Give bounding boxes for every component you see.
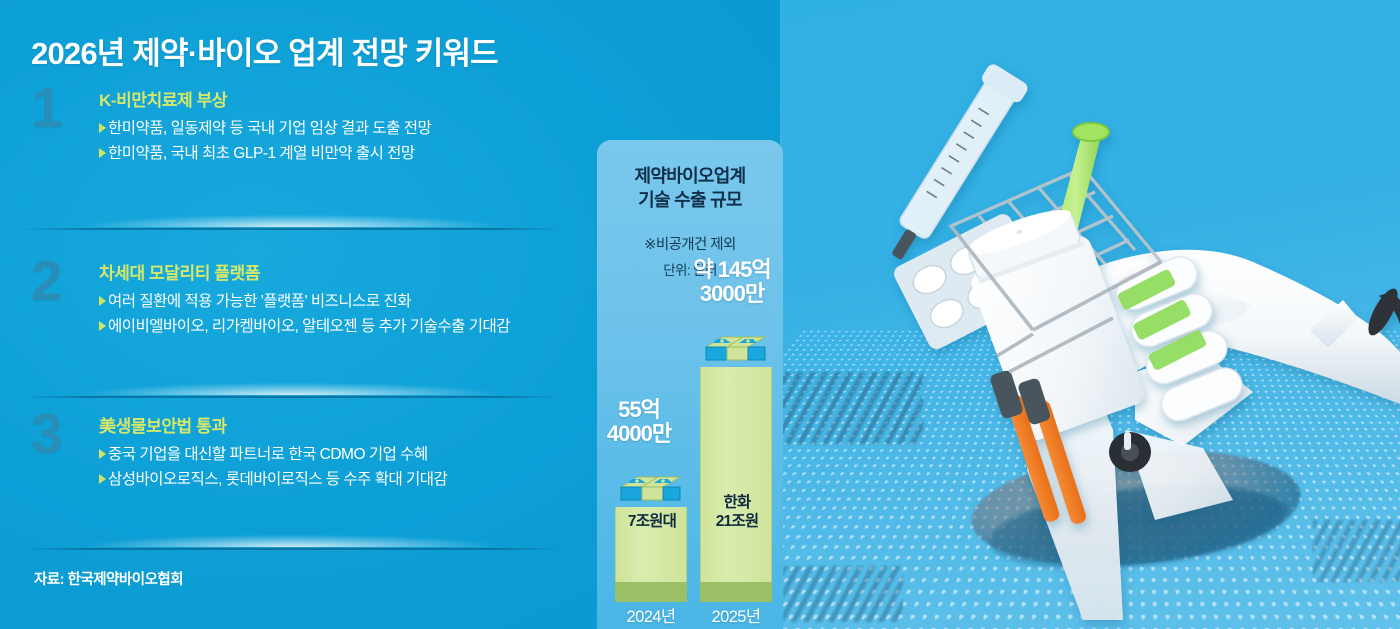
keyword-number-1: 1 [31,80,63,137]
bullet-triangle-icon [99,321,106,331]
bar-year-label-2024: 2024년 [609,603,693,627]
bar-inner-label-2025: 한화 21조원 [701,494,773,532]
page-title: 2026년 제약·바이오 업계 전망 키워드 [31,28,498,73]
chart-panel: 제약바이오업계 기술 수출 규모 ※비공개건 제외 단위: 달러 55억 400… [597,140,783,629]
keyword-item-text: 여러 질환에 적용 가능한 '플랫폼' 비즈니스로 진화 [108,289,411,314]
airplane-wheel [1109,432,1151,472]
source-label: 자료: 한국제약바이오협회 [34,568,183,589]
keyword-item-text: 에이비엘바이오, 리가켐바이오, 알테오젠 등 추가 기술수출 기대감 [108,314,510,339]
bullet-triangle-icon [99,296,106,306]
bar-value-line-1: 약 145억 [666,258,783,283]
bullet-triangle-icon [99,449,106,459]
keyword-block-1: 1 K-비만치료제 부상 한미약품, 일동제약 등 국내 기업 임상 결과 도출… [31,86,576,166]
money-stack-icon [618,473,684,507]
chart-title-line-2: 기술 수출 규모 [597,189,783,213]
keyword-block-2: 2 차세대 모달리티 플랫폼 여러 질환에 적용 가능한 '플랫폼' 비즈니스로… [31,259,576,339]
bar-value-label-2024: 55억 4000만 [597,398,705,447]
bar-inner-label-2024: 7조원대 [616,513,688,532]
keyword-body-2: 차세대 모달리티 플랫폼 여러 질환에 적용 가능한 '플랫폼' 비즈니스로 진… [99,259,576,339]
bar-rect-2025: 한화 21조원 [700,367,772,582]
keyword-item-text: 한미약품, 일동제약 등 국내 기업 임상 결과 도출 전망 [108,116,431,141]
keyword-item: 한미약품, 일동제약 등 국내 기업 임상 결과 도출 전망 [99,116,576,141]
keyword-item: 여러 질환에 적용 가능한 '플랫폼' 비즈니스로 진화 [99,289,576,314]
section-divider [22,372,562,398]
bar-inner-line-2: 21조원 [701,513,773,532]
keyword-item: 중국 기업을 대신할 파트너로 한국 CDMO 기업 수혜 [99,442,576,467]
bullet-triangle-icon [99,474,106,484]
bar-year-label-2025: 2025년 [694,603,778,627]
chart-title-line-1: 제약바이오업계 [597,165,783,189]
left-content-panel: 2026년 제약·바이오 업계 전망 키워드 1 K-비만치료제 부상 한미약품… [0,0,600,629]
bar-base-2025 [700,582,772,602]
photo-objects [783,0,1400,629]
keyword-heading-3: 美생물보안법 통과 [99,412,576,437]
keyword-item-text: 중국 기업을 대신할 파트너로 한국 CDMO 기업 수혜 [108,442,428,467]
bar-inner-line-1: 한화 [701,494,773,513]
bullet-triangle-icon [99,123,106,133]
bar-base-2024 [615,582,687,602]
keyword-item-text: 한미약품, 국내 최초 GLP-1 계열 비만약 출시 전망 [108,141,415,166]
keyword-item-text: 삼성바이오로직스, 롯데바이로직스 등 수주 확대 기대감 [108,467,447,492]
keyword-number-3: 3 [31,406,63,463]
bar-value-line-1: 55억 [597,398,705,423]
keyword-body-1: K-비만치료제 부상 한미약품, 일동제약 등 국내 기업 임상 결과 도출 전… [99,86,576,166]
bar-rect-2024: 7조원대 [615,507,687,582]
pharma-airplane-photo [783,0,1400,629]
keyword-item: 에이비엘바이오, 리가켐바이오, 알테오젠 등 추가 기술수출 기대감 [99,314,576,339]
keyword-item: 한미약품, 국내 최초 GLP-1 계열 비만약 출시 전망 [99,141,576,166]
infographic-canvas: 2026년 제약·바이오 업계 전망 키워드 1 K-비만치료제 부상 한미약품… [0,0,1400,629]
keyword-body-3: 美생물보안법 통과 중국 기업을 대신할 파트너로 한국 CDMO 기업 수혜 … [99,412,576,492]
keyword-number-2: 2 [31,253,63,310]
bar-value-label-2025: 약 145억 3000만 [666,258,783,307]
section-divider [22,204,562,230]
chart-title: 제약바이오업계 기술 수출 규모 [597,165,783,213]
bar-value-line-2: 4000만 [597,422,705,447]
bullet-triangle-icon [99,148,106,158]
keyword-heading-1: K-비만치료제 부상 [99,86,576,111]
money-stack-icon [703,333,769,367]
keyword-item: 삼성바이오로직스, 롯데바이로직스 등 수주 확대 기대감 [99,467,576,492]
section-divider [22,524,562,550]
keyword-heading-2: 차세대 모달리티 플랫폼 [99,259,576,284]
keyword-block-3: 3 美생물보안법 통과 중국 기업을 대신할 파트너로 한국 CDMO 기업 수… [31,412,576,492]
bar-value-line-2: 3000만 [666,282,783,307]
chart-note: ※비공개건 제외 [597,233,783,254]
